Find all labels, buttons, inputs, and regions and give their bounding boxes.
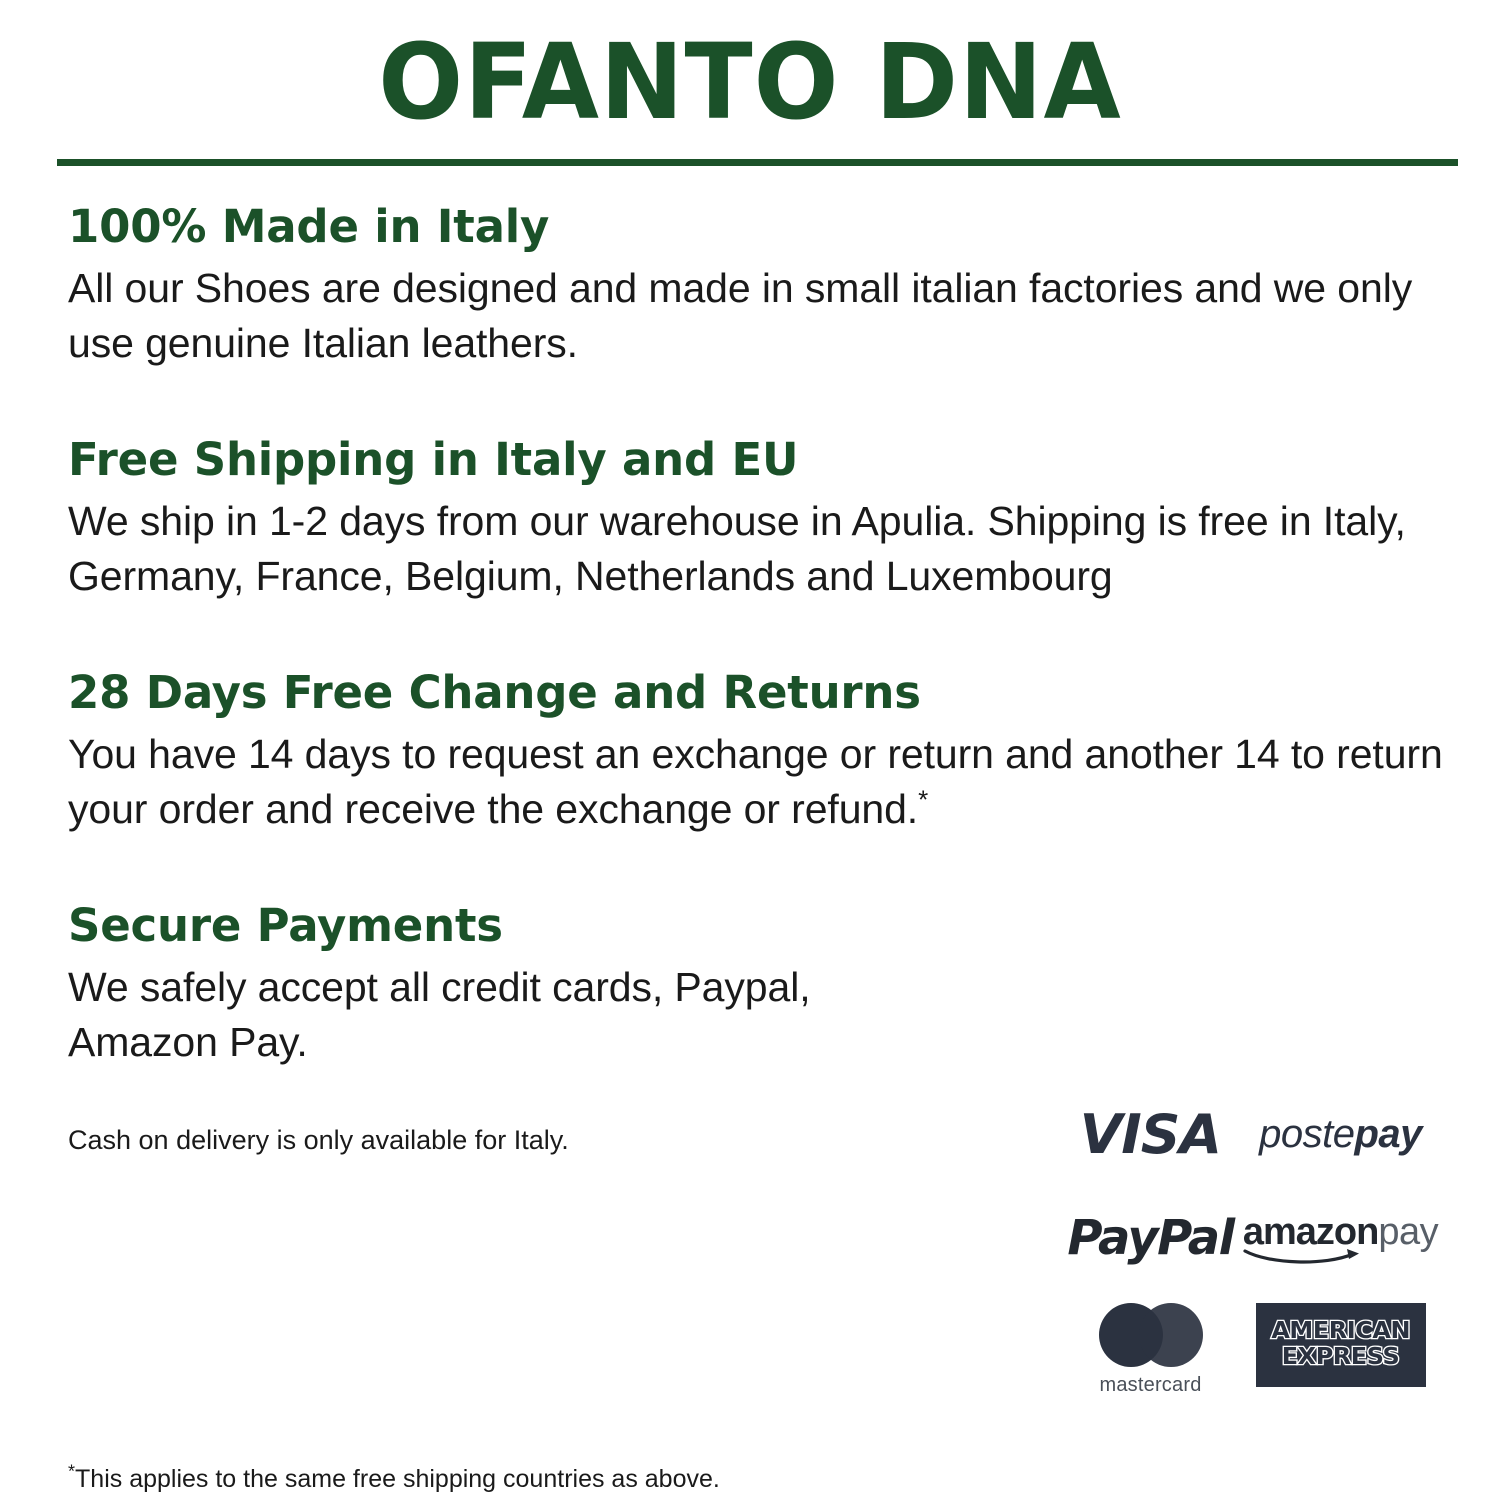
footnote: *This applies to the same free shipping …	[68, 1463, 720, 1496]
amazon-swoosh-icon	[1243, 1247, 1371, 1265]
postepay-icon-part-bold: pay	[1354, 1112, 1421, 1156]
payment-logos: VISA postepay PayPal amazonpay	[1058, 1095, 1448, 1381]
payments-text-block: Secure Payments We safely accept all cre…	[68, 899, 898, 1158]
mastercard-icon: mastercard	[1099, 1303, 1203, 1397]
mastercard-circle-right	[1139, 1303, 1203, 1367]
section-body-returns: You have 14 days to request an exchange …	[68, 727, 1458, 837]
postepay-icon: postepay	[1259, 1112, 1422, 1157]
amazon-pay-icon-pay: pay	[1378, 1211, 1438, 1253]
section-made-in-italy: 100% Made in Italy All our Shoes are des…	[68, 200, 1458, 371]
visa-logo-cell: VISA	[1058, 1103, 1243, 1166]
footnote-text: This applies to the same free shipping c…	[75, 1465, 720, 1493]
section-body-free-shipping: We ship in 1-2 days from our warehouse i…	[68, 494, 1458, 604]
mastercard-logo-cell: mastercard	[1058, 1303, 1243, 1397]
section-returns: 28 Days Free Change and Returns You have…	[68, 666, 1458, 837]
cash-on-delivery-note: Cash on delivery is only available for I…	[68, 1122, 898, 1158]
section-heading-made-in-italy: 100% Made in Italy	[68, 200, 1458, 253]
mastercard-circles-icon	[1099, 1303, 1203, 1367]
amazon-pay-logo-cell: amazonpay	[1243, 1213, 1438, 1263]
section-free-shipping: Free Shipping in Italy and EU We ship in…	[68, 433, 1458, 604]
content-column: 100% Made in Italy All our Shoes are des…	[68, 200, 1458, 1158]
section-heading-secure-payments: Secure Payments	[68, 899, 898, 952]
footnote-marker: *	[68, 1462, 75, 1482]
postepay-icon-part-light: poste	[1259, 1112, 1354, 1156]
postepay-logo-cell: postepay	[1243, 1112, 1438, 1157]
section-body-returns-text: You have 14 days to request an exchange …	[68, 731, 1443, 832]
payment-logos-row-1: VISA postepay	[1058, 1095, 1448, 1173]
visa-icon: VISA	[1080, 1103, 1221, 1166]
paypal-icon: PayPal	[1067, 1210, 1233, 1266]
page-title: OFANTO DNA	[30, 24, 1470, 140]
section-heading-free-shipping: Free Shipping in Italy and EU	[68, 433, 1458, 486]
payment-logos-row-3: mastercard AMERICAN EXPRESS	[1058, 1303, 1448, 1381]
section-body-made-in-italy: All our Shoes are designed and made in s…	[68, 261, 1458, 371]
american-express-line-2: EXPRESS	[1282, 1345, 1400, 1371]
section-body-secure-payments: We safely accept all credit cards, Paypa…	[68, 960, 898, 1070]
info-panel: OFANTO DNA 100% Made in Italy All our Sh…	[0, 0, 1500, 1500]
american-express-icon: AMERICAN EXPRESS	[1256, 1303, 1426, 1387]
section-heading-returns: 28 Days Free Change and Returns	[68, 666, 1458, 719]
returns-footnote-marker: *	[918, 784, 928, 814]
payment-logos-row-2: PayPal amazonpay	[1058, 1199, 1448, 1277]
paypal-logo-cell: PayPal	[1058, 1210, 1243, 1266]
mastercard-wordmark: mastercard	[1099, 1374, 1201, 1397]
header-divider	[57, 159, 1458, 166]
american-express-logo-cell: AMERICAN EXPRESS	[1243, 1303, 1438, 1387]
american-express-line-1: AMERICAN	[1271, 1319, 1410, 1345]
amazon-pay-icon: amazonpay	[1243, 1213, 1438, 1263]
